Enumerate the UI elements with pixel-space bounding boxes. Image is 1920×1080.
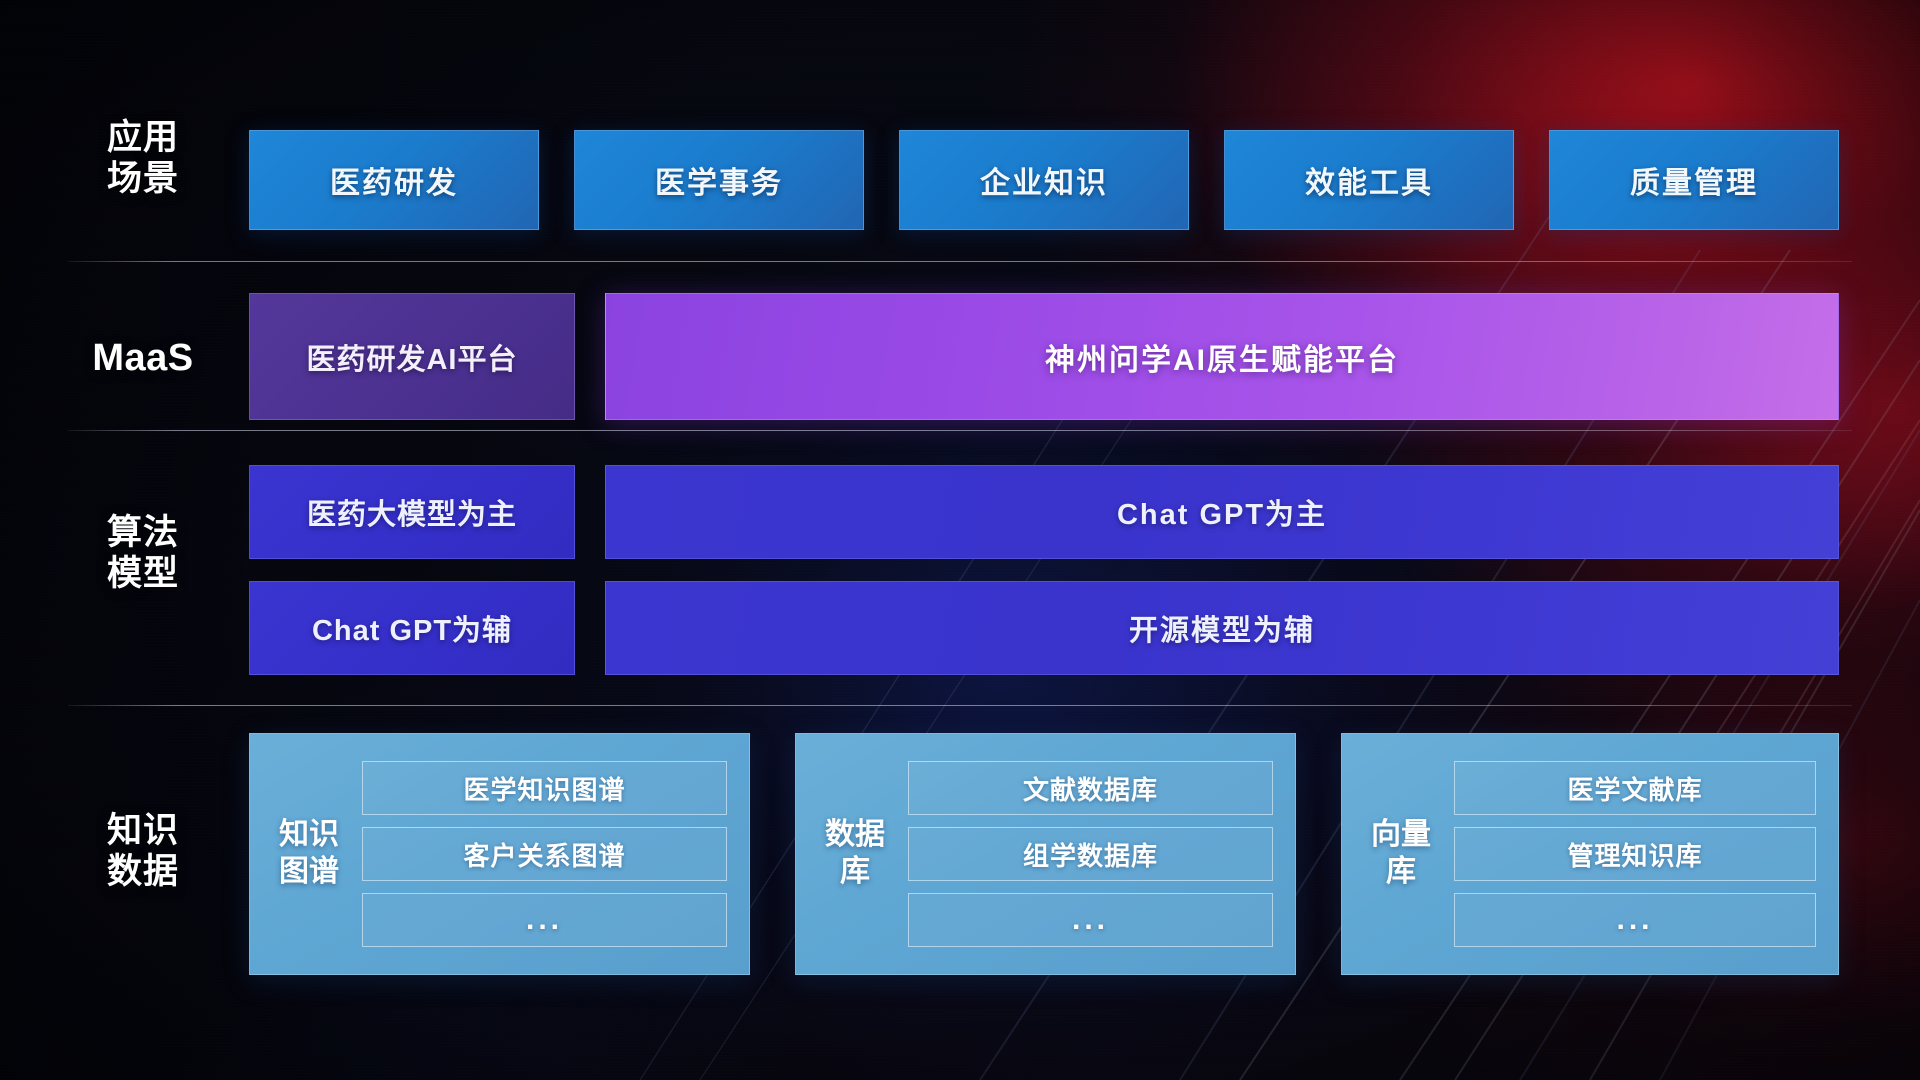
- divider-2: [68, 430, 1852, 431]
- maas-platform-label-left: 医药研发AI平台: [306, 336, 517, 378]
- algorithm-box-row1-left[interactable]: 医药大模型为主: [249, 465, 575, 559]
- app-scenario-label-2: 医学事务: [655, 158, 783, 202]
- diagram-content: 应用 场景 医药研发 医学事务 企业知识 效能工具 质量管理 MaaS 医药研发…: [0, 0, 1920, 1080]
- app-scenario-label-3: 企业知识: [980, 158, 1108, 202]
- knowledge-item[interactable]: 文献数据库: [908, 761, 1273, 815]
- algorithm-label-row2-left: Chat GPT为辅: [312, 607, 512, 649]
- knowledge-item-more[interactable]: ...: [1454, 893, 1816, 947]
- knowledge-item[interactable]: 医学文献库: [1454, 761, 1816, 815]
- maas-platform-box-right[interactable]: 神州问学AI原生赋能平台: [605, 293, 1839, 420]
- divider-3: [68, 705, 1852, 706]
- row-label-maas-text: MaaS: [92, 337, 193, 379]
- algorithm-label-row2-right: 开源模型为辅: [1129, 607, 1315, 649]
- app-scenario-box-4[interactable]: 效能工具: [1224, 130, 1514, 230]
- row-label-knowledge-line1: 知识: [68, 810, 218, 851]
- row-label-knowledge: 知识 数据: [68, 810, 218, 893]
- app-scenario-box-1[interactable]: 医药研发: [249, 130, 539, 230]
- row-label-application: 应用 场景: [68, 117, 218, 200]
- app-scenario-box-5[interactable]: 质量管理: [1549, 130, 1839, 230]
- maas-platform-label-right: 神州问学AI原生赋能平台: [1045, 335, 1399, 379]
- knowledge-block-2[interactable]: 数据库 文献数据库 组学数据库 ...: [795, 733, 1296, 975]
- row-label-application-line1: 应用: [68, 117, 218, 158]
- knowledge-block-1[interactable]: 知识图谱 医学知识图谱 客户关系图谱 ...: [249, 733, 750, 975]
- knowledge-item[interactable]: 组学数据库: [908, 827, 1273, 881]
- knowledge-block-3[interactable]: 向量库 医学文献库 管理知识库 ...: [1341, 733, 1839, 975]
- knowledge-item[interactable]: 医学知识图谱: [362, 761, 727, 815]
- algorithm-box-row2-right[interactable]: 开源模型为辅: [605, 581, 1839, 675]
- app-scenario-label-1: 医药研发: [330, 158, 458, 202]
- app-scenario-label-4: 效能工具: [1305, 158, 1433, 202]
- knowledge-item[interactable]: 客户关系图谱: [362, 827, 727, 881]
- algorithm-box-row2-left[interactable]: Chat GPT为辅: [249, 581, 575, 675]
- knowledge-block-3-items: 医学文献库 管理知识库 ...: [1454, 761, 1816, 947]
- knowledge-item-more[interactable]: ...: [362, 893, 727, 947]
- row-label-knowledge-line2: 数据: [68, 851, 218, 892]
- knowledge-block-2-title: 数据库: [818, 817, 892, 890]
- algorithm-label-row1-right: Chat GPT为主: [1117, 491, 1327, 533]
- knowledge-block-3-title: 向量库: [1364, 817, 1438, 890]
- app-scenario-box-3[interactable]: 企业知识: [899, 130, 1189, 230]
- row-label-algorithm: 算法 模型: [68, 512, 218, 595]
- maas-platform-box-left[interactable]: 医药研发AI平台: [249, 293, 575, 420]
- algorithm-box-row1-right[interactable]: Chat GPT为主: [605, 465, 1839, 559]
- divider-1: [68, 261, 1852, 262]
- knowledge-item[interactable]: 管理知识库: [1454, 827, 1816, 881]
- knowledge-block-1-title: 知识图谱: [272, 817, 346, 890]
- slide-canvas: 应用 场景 医药研发 医学事务 企业知识 效能工具 质量管理 MaaS 医药研发…: [0, 0, 1920, 1080]
- row-label-algorithm-line1: 算法: [68, 512, 218, 553]
- row-label-maas: MaaS: [68, 336, 218, 381]
- row-label-algorithm-line2: 模型: [68, 553, 218, 594]
- app-scenario-box-2[interactable]: 医学事务: [574, 130, 864, 230]
- knowledge-item-more[interactable]: ...: [908, 893, 1273, 947]
- knowledge-block-1-items: 医学知识图谱 客户关系图谱 ...: [362, 761, 727, 947]
- app-scenario-label-5: 质量管理: [1630, 158, 1758, 202]
- knowledge-block-2-items: 文献数据库 组学数据库 ...: [908, 761, 1273, 947]
- algorithm-label-row1-left: 医药大模型为主: [307, 491, 517, 533]
- row-label-application-line2: 场景: [68, 158, 218, 199]
